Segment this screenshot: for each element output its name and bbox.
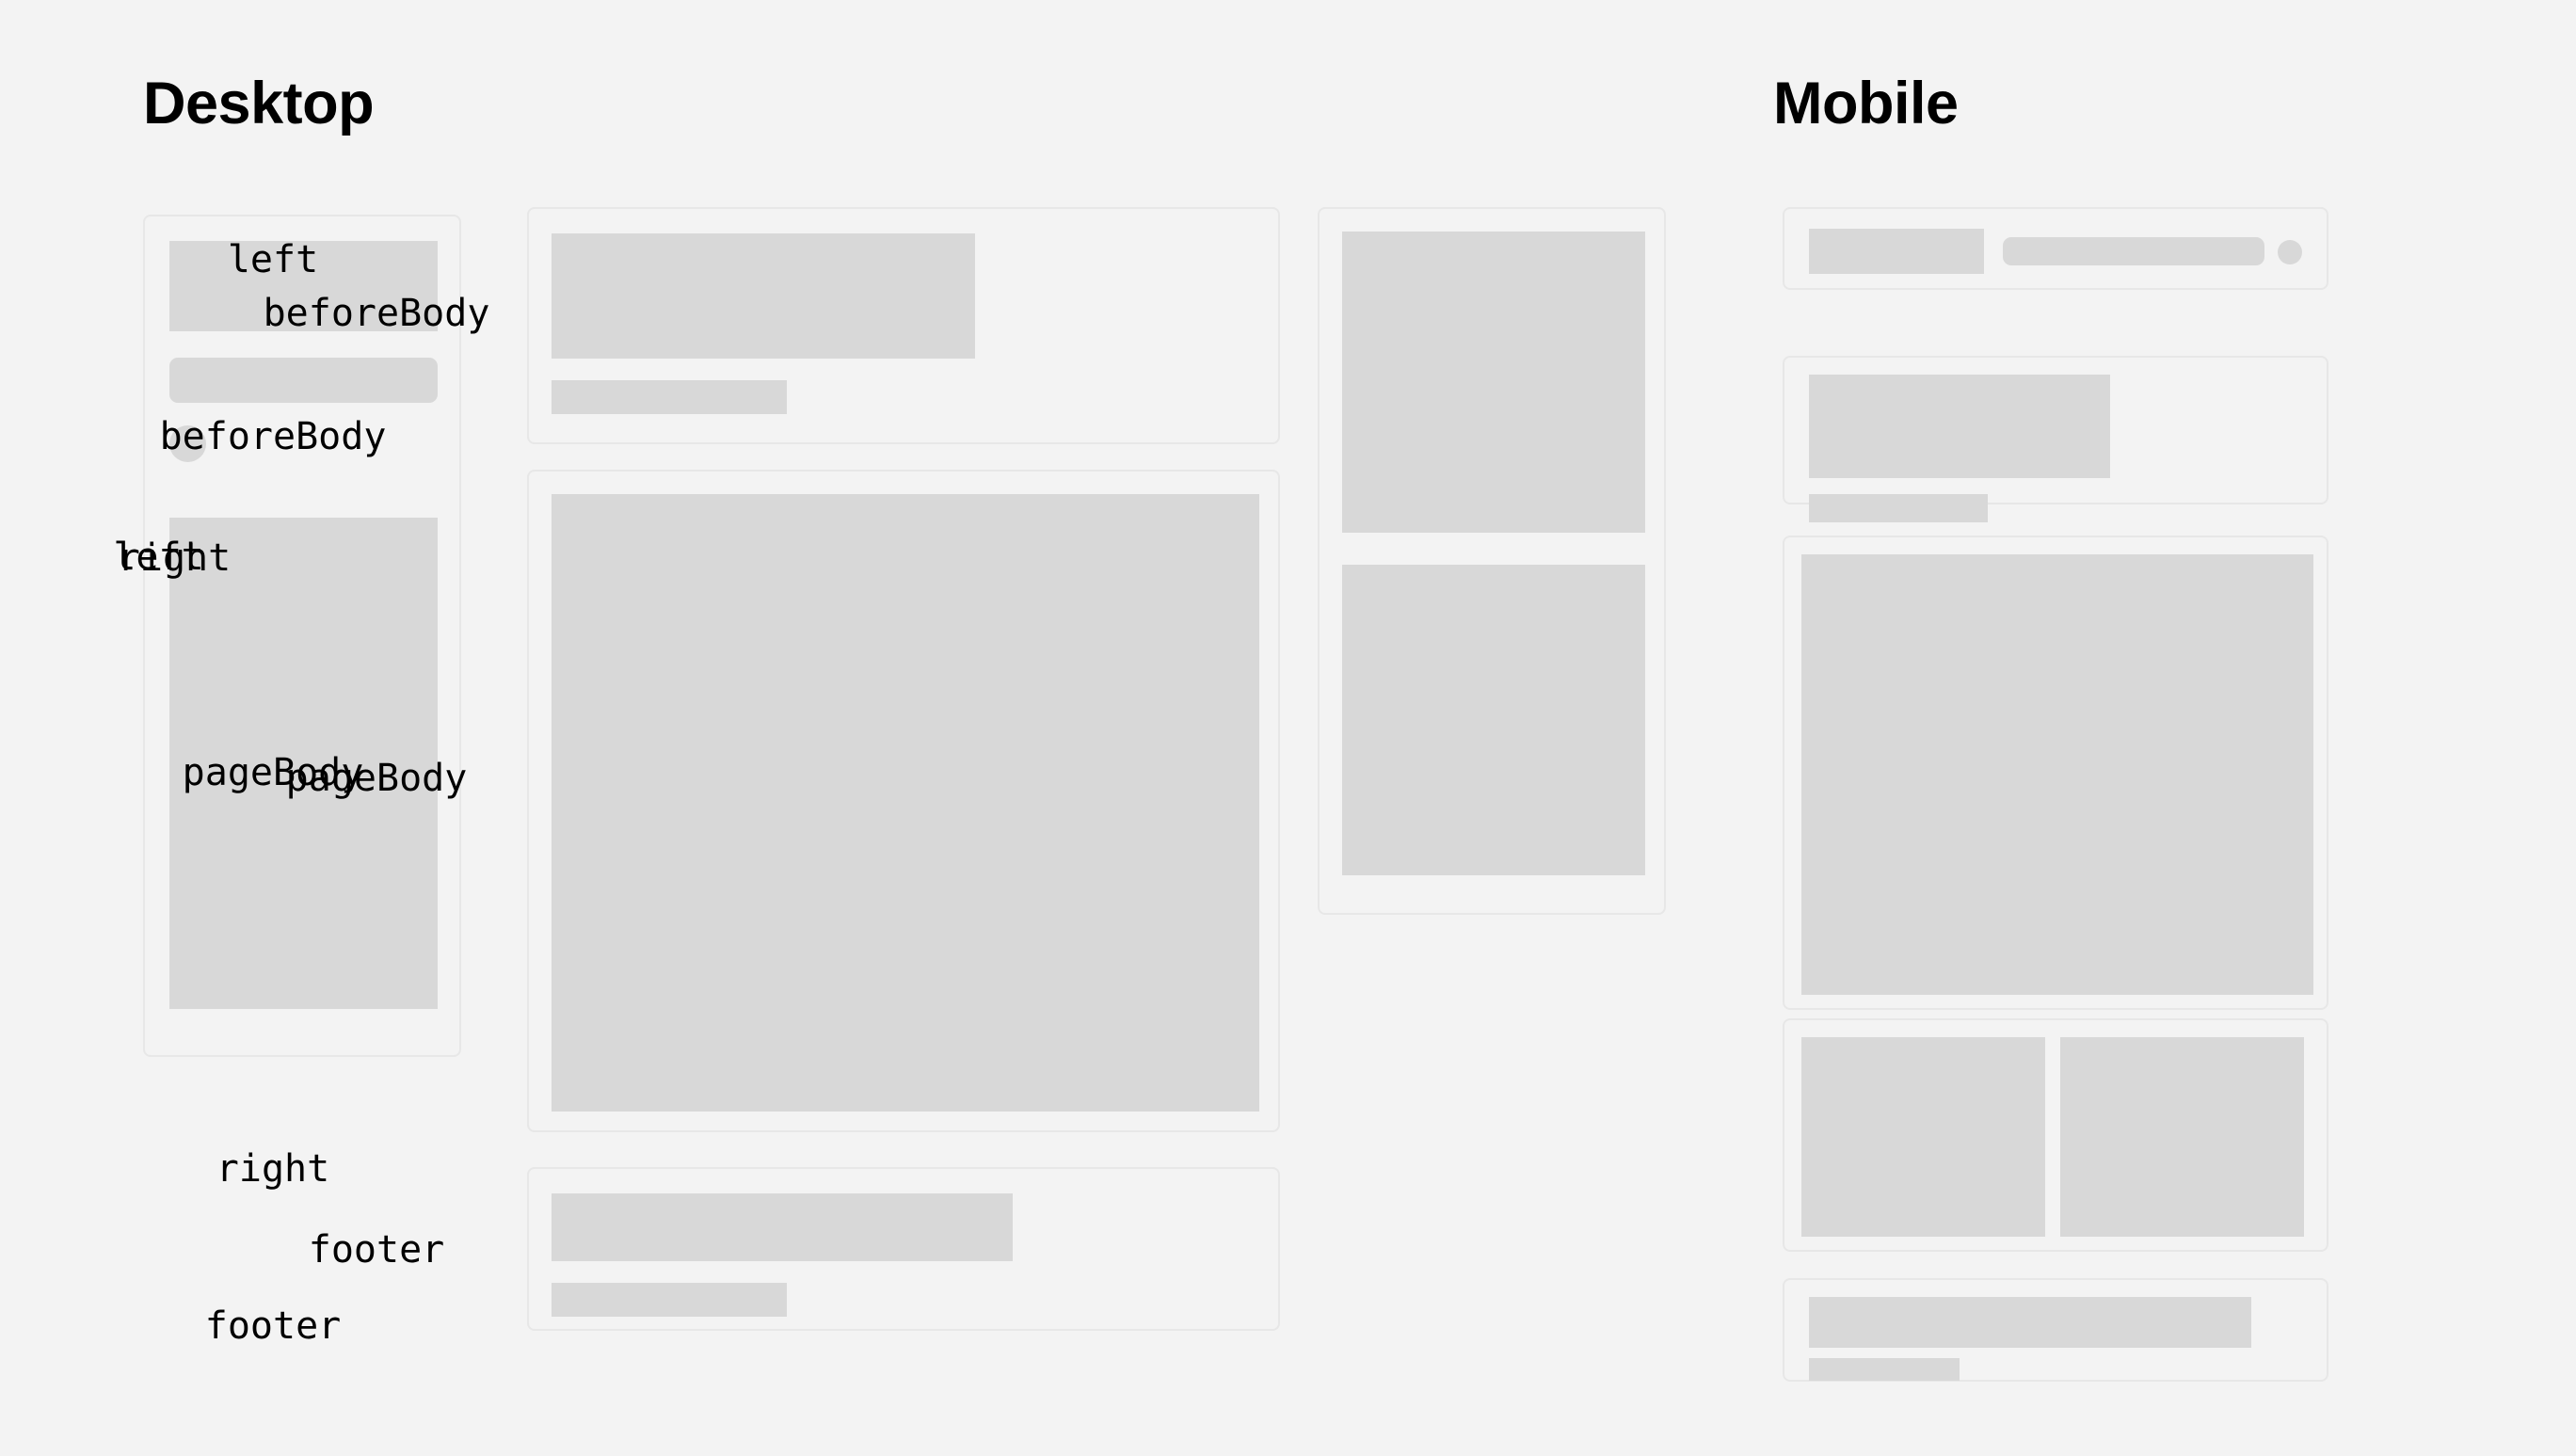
mobile-footer-region-panel[interactable]: [1783, 1278, 2328, 1382]
mobile-pagebody-region-panel[interactable]: [1783, 536, 2328, 1010]
skeleton-block-image: [552, 1193, 1013, 1261]
desktop-beforebody-region-panel[interactable]: [527, 207, 1280, 444]
skeleton-avatar-circle: [2278, 240, 2302, 264]
skeleton-block-image: [169, 241, 438, 331]
skeleton-block-image: [1809, 1297, 2251, 1348]
desktop-left-region-panel[interactable]: [143, 215, 461, 1057]
desktop-footer-region-panel[interactable]: [527, 1167, 1280, 1331]
skeleton-block-bar: [1809, 1358, 1960, 1381]
skeleton-block-image: [552, 233, 975, 359]
mobile-beforebody-region-panel[interactable]: [1783, 356, 2328, 504]
mobile-left-region-panel[interactable]: [1783, 207, 2328, 290]
skeleton-block-main: [1801, 554, 2313, 995]
mobile-right-region-label: right: [0, 1150, 546, 1188]
skeleton-block-top: [1342, 232, 1645, 533]
skeleton-block-bar: [1809, 494, 1988, 522]
mobile-section-title: Mobile: [1773, 74, 1959, 134]
skeleton-block-bottom: [1342, 565, 1645, 875]
skeleton-block-image: [1809, 229, 1984, 274]
skeleton-block-image: [1809, 375, 2110, 478]
desktop-section-title: Desktop: [143, 74, 374, 134]
skeleton-avatar-circle: [169, 425, 206, 462]
skeleton-block-bar: [2003, 237, 2264, 265]
desktop-right-region-panel[interactable]: [1318, 207, 1666, 915]
skeleton-block-main: [552, 494, 1259, 1112]
mobile-footer-region-label: footer: [0, 1307, 546, 1345]
skeleton-block-bar: [169, 358, 438, 403]
skeleton-block-bar: [552, 380, 787, 414]
skeleton-block-main: [169, 518, 438, 1009]
mobile-right-region-panel[interactable]: [1783, 1018, 2328, 1252]
desktop-pagebody-region-panel[interactable]: [527, 470, 1280, 1132]
skeleton-block-bar: [552, 1283, 787, 1317]
skeleton-block-right: [2060, 1037, 2304, 1237]
skeleton-block-left: [1801, 1037, 2045, 1237]
